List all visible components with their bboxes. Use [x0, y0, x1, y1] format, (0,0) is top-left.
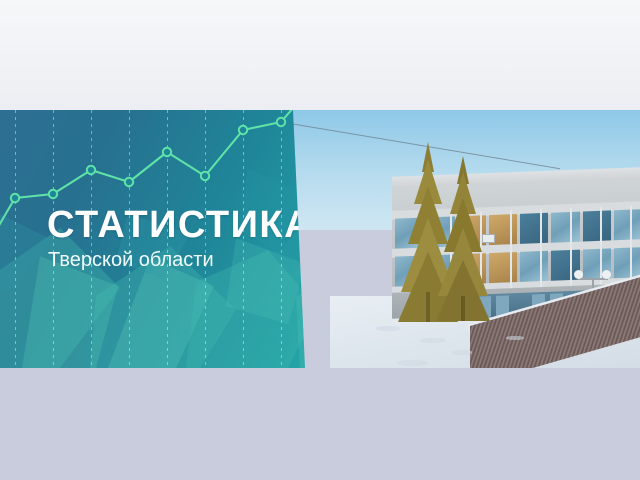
- street-lamp-bulb: [574, 270, 583, 279]
- banner-title: СТАТИСТИКА: [47, 206, 313, 244]
- site-banner[interactable]: СТАТИСТИКА Тверской области: [0, 110, 640, 368]
- page-top-band: [0, 0, 640, 110]
- banner-subtitle: Тверской области: [48, 250, 214, 270]
- street-lamp-bulb: [602, 270, 611, 279]
- conifer-tree-icon: [436, 156, 490, 321]
- page-root: СТАТИСТИКА Тверской области: [0, 0, 640, 480]
- page-bottom-band: [0, 368, 640, 480]
